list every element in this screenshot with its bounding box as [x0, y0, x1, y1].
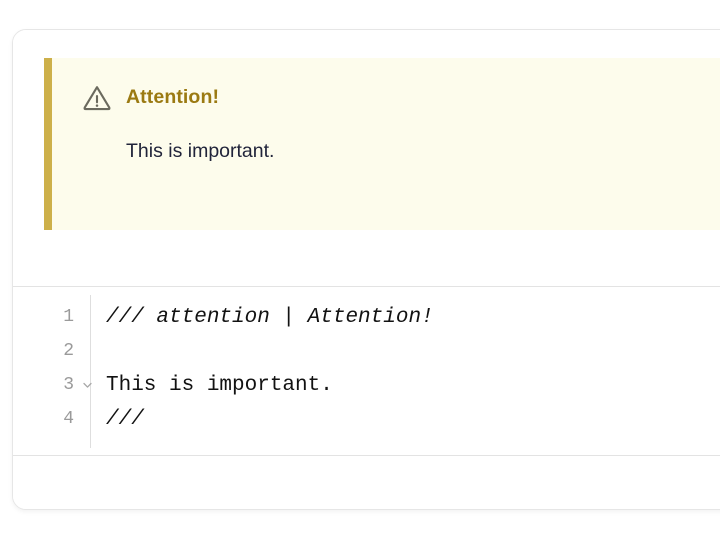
- admonition-title: Attention!: [126, 88, 219, 108]
- screenshot-root: Attention! This is important. 1 /// atte…: [0, 0, 720, 544]
- line-number: 2: [63, 342, 74, 360]
- line-number-cell: 4: [13, 402, 78, 436]
- admonition-body: Attention! This is important.: [52, 58, 720, 230]
- line-number-cell: 1: [13, 300, 78, 334]
- line-number: 4: [63, 410, 74, 428]
- card-footer: [13, 456, 720, 509]
- code-line[interactable]: 2: [13, 334, 720, 368]
- rendered-preview-pane: Attention! This is important.: [13, 30, 720, 287]
- code-line[interactable]: 3 This is important.: [13, 368, 720, 402]
- admonition-text: This is important.: [52, 138, 720, 164]
- code-line-text[interactable]: This is important.: [78, 375, 333, 396]
- line-number-cell: 3: [13, 368, 78, 402]
- warning-triangle-icon: [82, 84, 112, 111]
- code-line[interactable]: 1 /// attention | Attention!: [13, 300, 720, 334]
- attention-admonition: Attention! This is important.: [44, 58, 720, 230]
- chevron-down-icon[interactable]: [81, 379, 94, 392]
- admonition-title-row: Attention!: [52, 84, 720, 111]
- preview-card: Attention! This is important. 1 /// atte…: [12, 29, 720, 510]
- admonition-accent-bar: [44, 58, 52, 230]
- code-line[interactable]: 4 ///: [13, 402, 720, 436]
- code-editor-pane[interactable]: 1 /// attention | Attention! 2 3: [13, 287, 720, 456]
- code-line-text[interactable]: ///: [78, 409, 144, 430]
- line-number: 3: [63, 376, 74, 394]
- line-number: 1: [63, 308, 74, 326]
- code-line-text[interactable]: /// attention | Attention!: [78, 307, 434, 328]
- line-number-cell: 2: [13, 334, 78, 368]
